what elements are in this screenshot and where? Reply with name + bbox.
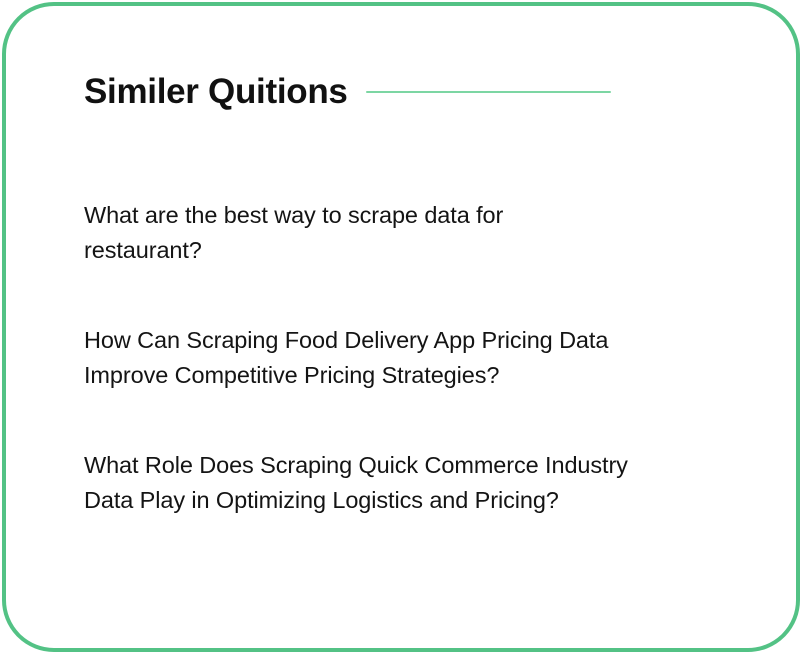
list-item[interactable]: How Can Scraping Food Delivery App Prici… <box>84 323 669 393</box>
page-title: Similer Quitions <box>84 70 348 114</box>
question-link-text: How Can Scraping Food Delivery App Prici… <box>84 327 608 388</box>
question-link-text: What Role Does Scraping Quick Commerce I… <box>84 452 628 513</box>
card-content: Similer Quitions What are the best way t… <box>6 6 796 648</box>
similar-questions-card: Similer Quitions What are the best way t… <box>2 2 800 652</box>
heading-divider-line <box>366 91 611 93</box>
page-root: Similer Quitions What are the best way t… <box>0 0 804 657</box>
section-heading: Similer Quitions <box>84 70 766 114</box>
list-item[interactable]: What are the best way to scrape data for… <box>84 198 624 268</box>
similar-questions-list: What are the best way to scrape data for… <box>84 198 684 518</box>
list-item[interactable]: What Role Does Scraping Quick Commerce I… <box>84 448 669 518</box>
question-link-text: What are the best way to scrape data for… <box>84 202 503 263</box>
